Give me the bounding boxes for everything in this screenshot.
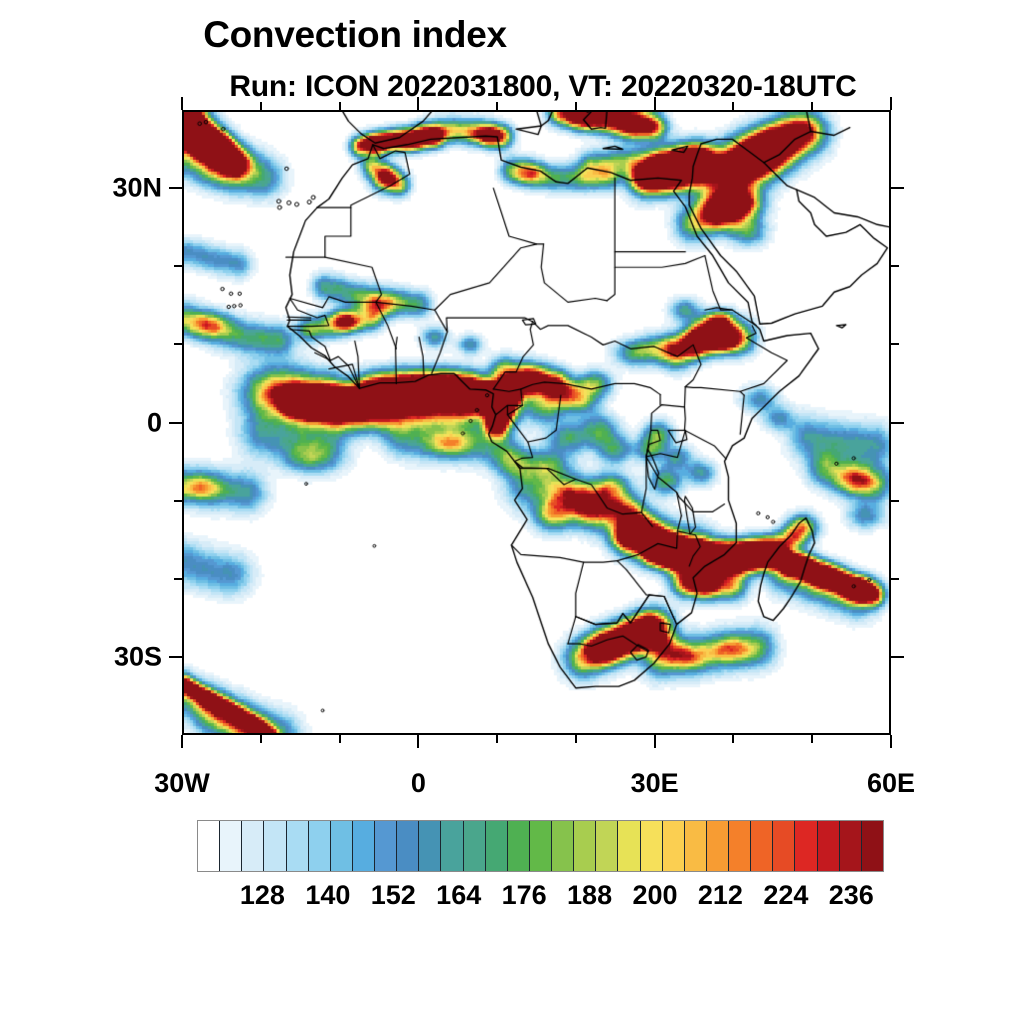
figure-subtitle: Run: ICON 2022031800, VT: 20220320-18UTC <box>31 70 1024 104</box>
x-major-tick <box>654 735 656 748</box>
colorbar-cell-26[interactable] <box>773 821 795 871</box>
colorbar-tick-label: 152 <box>371 880 416 911</box>
y-minor-tick-right <box>891 343 899 345</box>
colorbar-cell-20[interactable] <box>641 821 663 871</box>
map-plot-area[interactable] <box>182 110 891 735</box>
colorbar-cell-5[interactable] <box>309 821 331 871</box>
colorbar-cell-18[interactable] <box>596 821 618 871</box>
x-minor-tick <box>339 735 341 743</box>
colorbar-cell-25[interactable] <box>751 821 773 871</box>
colorbar-cell-28[interactable] <box>818 821 840 871</box>
x-axis-label: 0 <box>411 768 426 799</box>
colorbar-cell-6[interactable] <box>331 821 353 871</box>
y-major-tick-right <box>891 187 904 189</box>
colorbar-cell-15[interactable] <box>530 821 552 871</box>
y-minor-tick-right <box>891 578 899 580</box>
y-minor-tick <box>174 578 182 580</box>
y-minor-tick-right <box>891 265 899 267</box>
colorbar-cell-30[interactable] <box>862 821 883 871</box>
x-minor-tick <box>496 735 498 743</box>
x-major-tick-top <box>181 97 183 110</box>
x-minor-tick-top <box>811 102 813 110</box>
colorbar-cell-23[interactable] <box>707 821 729 871</box>
y-minor-tick <box>174 343 182 345</box>
colorbar-tick-label: 176 <box>502 880 547 911</box>
y-major-tick <box>169 422 182 424</box>
y-axis-label: 30N <box>112 173 162 204</box>
x-minor-tick-top <box>575 102 577 110</box>
x-minor-tick-top <box>732 102 734 110</box>
x-minor-tick <box>260 735 262 743</box>
colorbar-tick-label: 188 <box>567 880 612 911</box>
colorbar-cell-12[interactable] <box>464 821 486 871</box>
colorbar-cell-3[interactable] <box>264 821 286 871</box>
colorbar-cell-13[interactable] <box>486 821 508 871</box>
y-minor-tick <box>174 500 182 502</box>
colorbar-cells[interactable] <box>197 820 884 872</box>
colorbar-cell-0[interactable] <box>198 821 220 871</box>
colorbar-tick-label: 200 <box>632 880 677 911</box>
x-axis-label: 60E <box>867 768 915 799</box>
colorbar-cell-2[interactable] <box>242 821 264 871</box>
y-minor-tick-right <box>891 500 899 502</box>
x-major-tick-top <box>417 97 419 110</box>
y-axis-label: 30S <box>114 641 162 672</box>
colorbar-cell-17[interactable] <box>574 821 596 871</box>
colorbar-cell-22[interactable] <box>685 821 707 871</box>
convection-index-figure: Convection index Run: ICON 2022031800, V… <box>0 0 1024 1024</box>
x-minor-tick <box>732 735 734 743</box>
x-axis-label: 30E <box>631 768 679 799</box>
colorbar-cell-21[interactable] <box>663 821 685 871</box>
x-minor-tick-top <box>496 102 498 110</box>
colorbar-tick-label: 140 <box>305 880 350 911</box>
x-minor-tick <box>811 735 813 743</box>
colorbar-tick-label: 164 <box>436 880 481 911</box>
convection-heatmap-canvas <box>184 112 889 733</box>
colorbar-cell-29[interactable] <box>840 821 862 871</box>
colorbar-cell-14[interactable] <box>508 821 530 871</box>
colorbar-tick-label: 128 <box>240 880 285 911</box>
x-minor-tick <box>575 735 577 743</box>
colorbar-cell-7[interactable] <box>353 821 375 871</box>
colorbar-cell-10[interactable] <box>419 821 441 871</box>
colorbar-cell-1[interactable] <box>220 821 242 871</box>
colorbar-cell-4[interactable] <box>287 821 309 871</box>
y-major-tick <box>169 187 182 189</box>
colorbar-cell-8[interactable] <box>375 821 397 871</box>
y-major-tick-right <box>891 656 904 658</box>
page-title: Convection index <box>0 14 867 56</box>
y-major-tick <box>169 656 182 658</box>
colorbar-cell-9[interactable] <box>397 821 419 871</box>
colorbar-cell-19[interactable] <box>618 821 640 871</box>
x-major-tick <box>890 735 892 748</box>
colorbar-tick-label: 236 <box>829 880 874 911</box>
x-major-tick-top <box>890 97 892 110</box>
colorbar-tick-label: 212 <box>698 880 743 911</box>
y-axis-label: 0 <box>147 407 162 438</box>
y-major-tick-right <box>891 422 904 424</box>
colorbar-tick-label: 224 <box>763 880 808 911</box>
x-major-tick <box>417 735 419 748</box>
colorbar-cell-27[interactable] <box>795 821 817 871</box>
x-minor-tick-top <box>260 102 262 110</box>
x-axis-label: 30W <box>154 768 210 799</box>
x-major-tick <box>181 735 183 748</box>
colorbar[interactable]: 128140152164176188200212224236 <box>197 820 884 872</box>
colorbar-cell-16[interactable] <box>552 821 574 871</box>
y-minor-tick <box>174 265 182 267</box>
colorbar-cell-24[interactable] <box>729 821 751 871</box>
x-minor-tick-top <box>339 102 341 110</box>
x-major-tick-top <box>654 97 656 110</box>
colorbar-cell-11[interactable] <box>441 821 463 871</box>
